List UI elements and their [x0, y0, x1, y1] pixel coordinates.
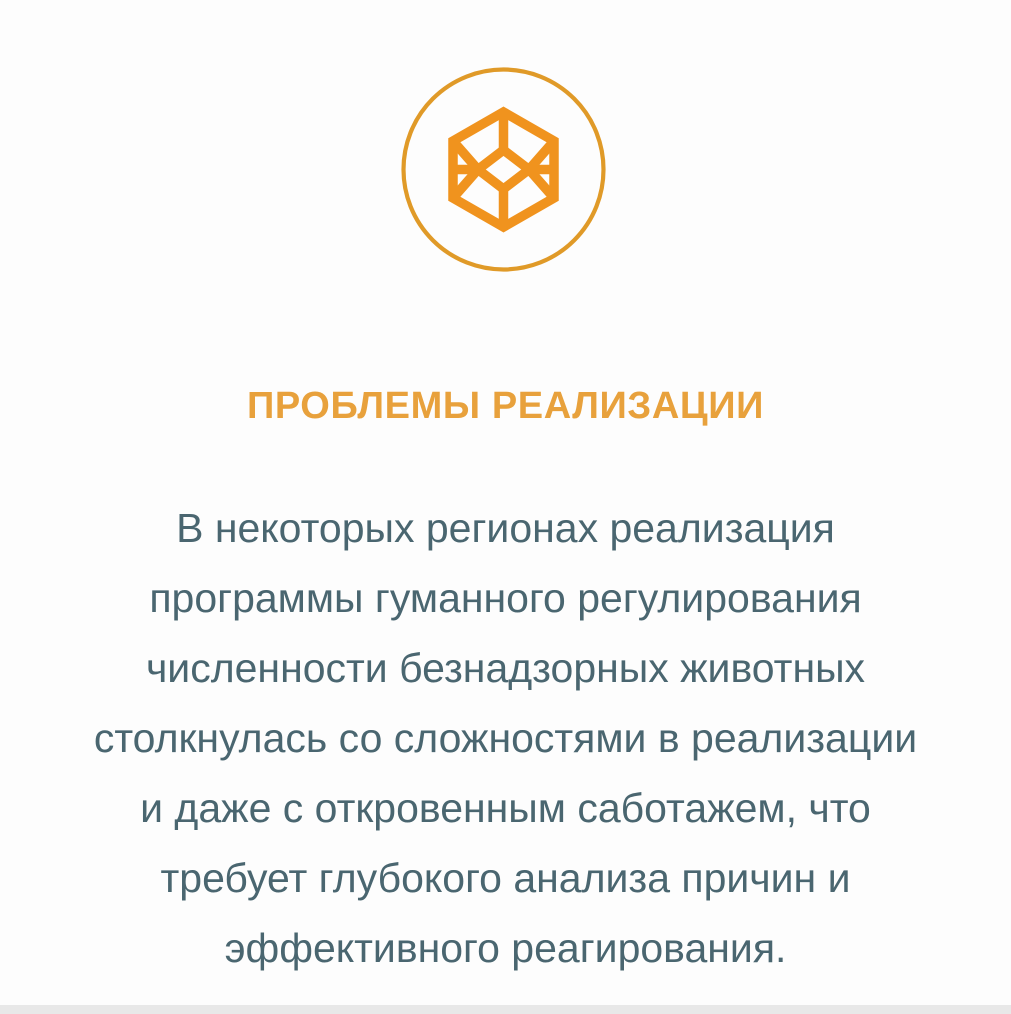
badge-ring-circle [404, 70, 604, 270]
body-paragraph: В некоторых регионах реализация программ… [0, 493, 1011, 983]
body-line: эффективного реагирования. [0, 913, 1011, 983]
body-line: столкнулась со сложностями в реализации [0, 703, 1011, 773]
bottom-divider-strip [0, 1005, 1011, 1014]
page-title: ПРОБЛЕМЫ РЕАЛИЗАЦИИ [0, 383, 1011, 429]
hexagon-wireframe-box-icon [401, 67, 606, 272]
glyph-inner-diamond [478, 150, 529, 189]
body-line: и даже с откровенным саботажем, что [0, 773, 1011, 843]
body-line: численности безнадзорных животных [0, 633, 1011, 703]
body-line: программы гуманного регулирования [0, 563, 1011, 633]
body-line: В некоторых регионах реализация [0, 493, 1011, 563]
body-line: требует глубокого анализа причин и [0, 843, 1011, 913]
slide-card: ПРОБЛЕМЫ РЕАЛИЗАЦИИ В некоторых регионах… [0, 0, 1011, 1014]
icon-badge [401, 67, 606, 272]
